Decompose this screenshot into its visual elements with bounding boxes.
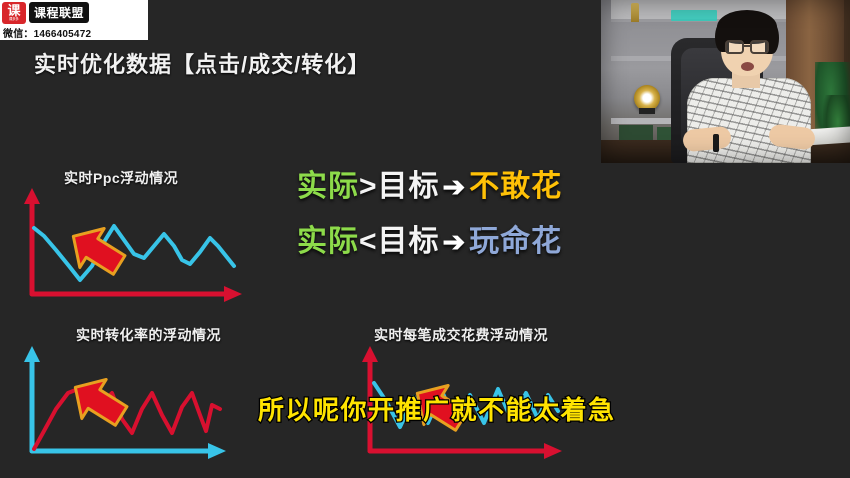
chart-conversion-svg <box>14 343 264 465</box>
watermark-top-row: 课 课多多 课程联盟 <box>2 1 146 24</box>
brand-name: 课程联盟 <box>29 2 89 23</box>
subtitle-caption: 所以呢你开推广就不能太着急 <box>258 390 616 427</box>
watermark-block: 课 课多多 课程联盟 微信：1466405472 <box>0 0 148 40</box>
statement-target-2: 目标 <box>378 225 440 258</box>
statement-line-over: 实际>目标➔不敢花 <box>297 172 562 203</box>
statement-group: 实际>目标➔不敢花 实际<目标➔玩命花 <box>297 172 562 257</box>
wechat-id: 微信：1466405472 <box>2 25 146 40</box>
chart-conversion-line <box>34 389 220 449</box>
right-arrow-icon: ➔ <box>440 227 470 257</box>
right-arrow-icon: ➔ <box>440 172 470 202</box>
course-logo-icon: 课 课多多 <box>2 2 26 24</box>
chart-conversion: 实时转化率的浮动情况 <box>14 325 264 465</box>
statement-operator-2: < <box>359 225 378 258</box>
webcam-video-panel[interactable] <box>601 0 850 163</box>
chart-ppc-line <box>34 226 234 280</box>
chart-ppc: 实时Ppc浮动情况 <box>14 168 264 308</box>
chart-ppc-svg <box>14 186 264 308</box>
statement-actual-2: 实际 <box>297 225 359 258</box>
chart-conversion-callout-arrow <box>63 368 133 436</box>
statement-line-under: 实际<目标➔玩命花 <box>297 227 562 258</box>
chart-conversion-title: 实时转化率的浮动情况 <box>76 325 221 345</box>
statement-target-1: 目标 <box>378 170 440 203</box>
chart-cost-per-order-title: 实时每笔成交花费浮动情况 <box>374 325 548 345</box>
chart-ppc-callout-arrow <box>61 217 131 285</box>
slide-canvas: 课 课多多 课程联盟 微信：1466405472 实时优化数据【点击/成交/转化… <box>0 0 850 478</box>
statement-actual-1: 实际 <box>297 170 359 203</box>
statement-operator-1: > <box>359 170 378 203</box>
statement-result-2: 玩命花 <box>469 225 562 258</box>
chart-ppc-title: 实时Ppc浮动情况 <box>64 168 178 188</box>
video-vignette <box>601 0 850 163</box>
page-title: 实时优化数据【点击/成交/转化】 <box>34 47 370 79</box>
statement-result-1: 不敢花 <box>469 170 562 203</box>
logo-sub-char: 课多多 <box>9 17 19 20</box>
chart-ppc-axes <box>24 188 242 302</box>
logo-main-char: 课 <box>7 4 20 17</box>
